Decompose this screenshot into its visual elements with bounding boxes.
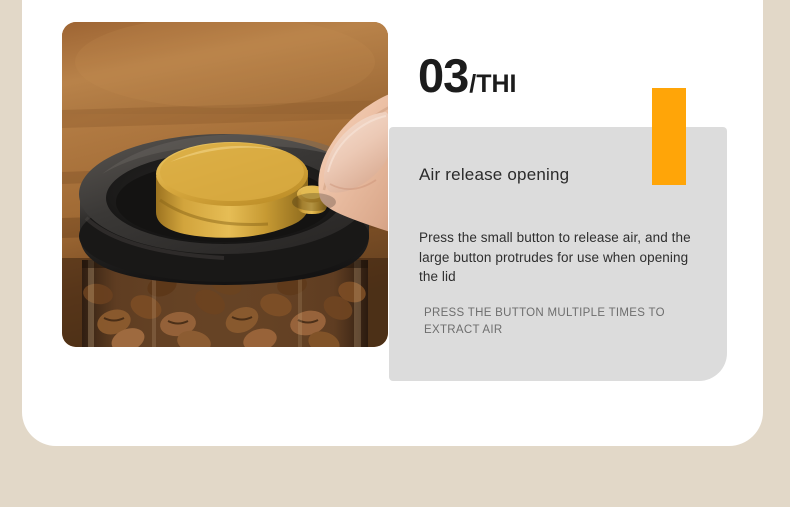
section-suffix: /THI [469, 72, 516, 97]
section-heading: 03 /THI [418, 52, 517, 99]
feature-description: Press the small button to release air, a… [419, 228, 691, 287]
section-number: 03 [418, 52, 468, 99]
product-photo [62, 22, 388, 347]
feature-subtext: PRESS THE BUTTON MULTIPLE TIMES TO EXTRA… [424, 305, 704, 340]
feature-title: Air release opening [419, 165, 569, 185]
product-feature-slide: 03 /THI Air release opening Press the sm… [0, 0, 790, 507]
orange-accent-bar [652, 88, 686, 185]
